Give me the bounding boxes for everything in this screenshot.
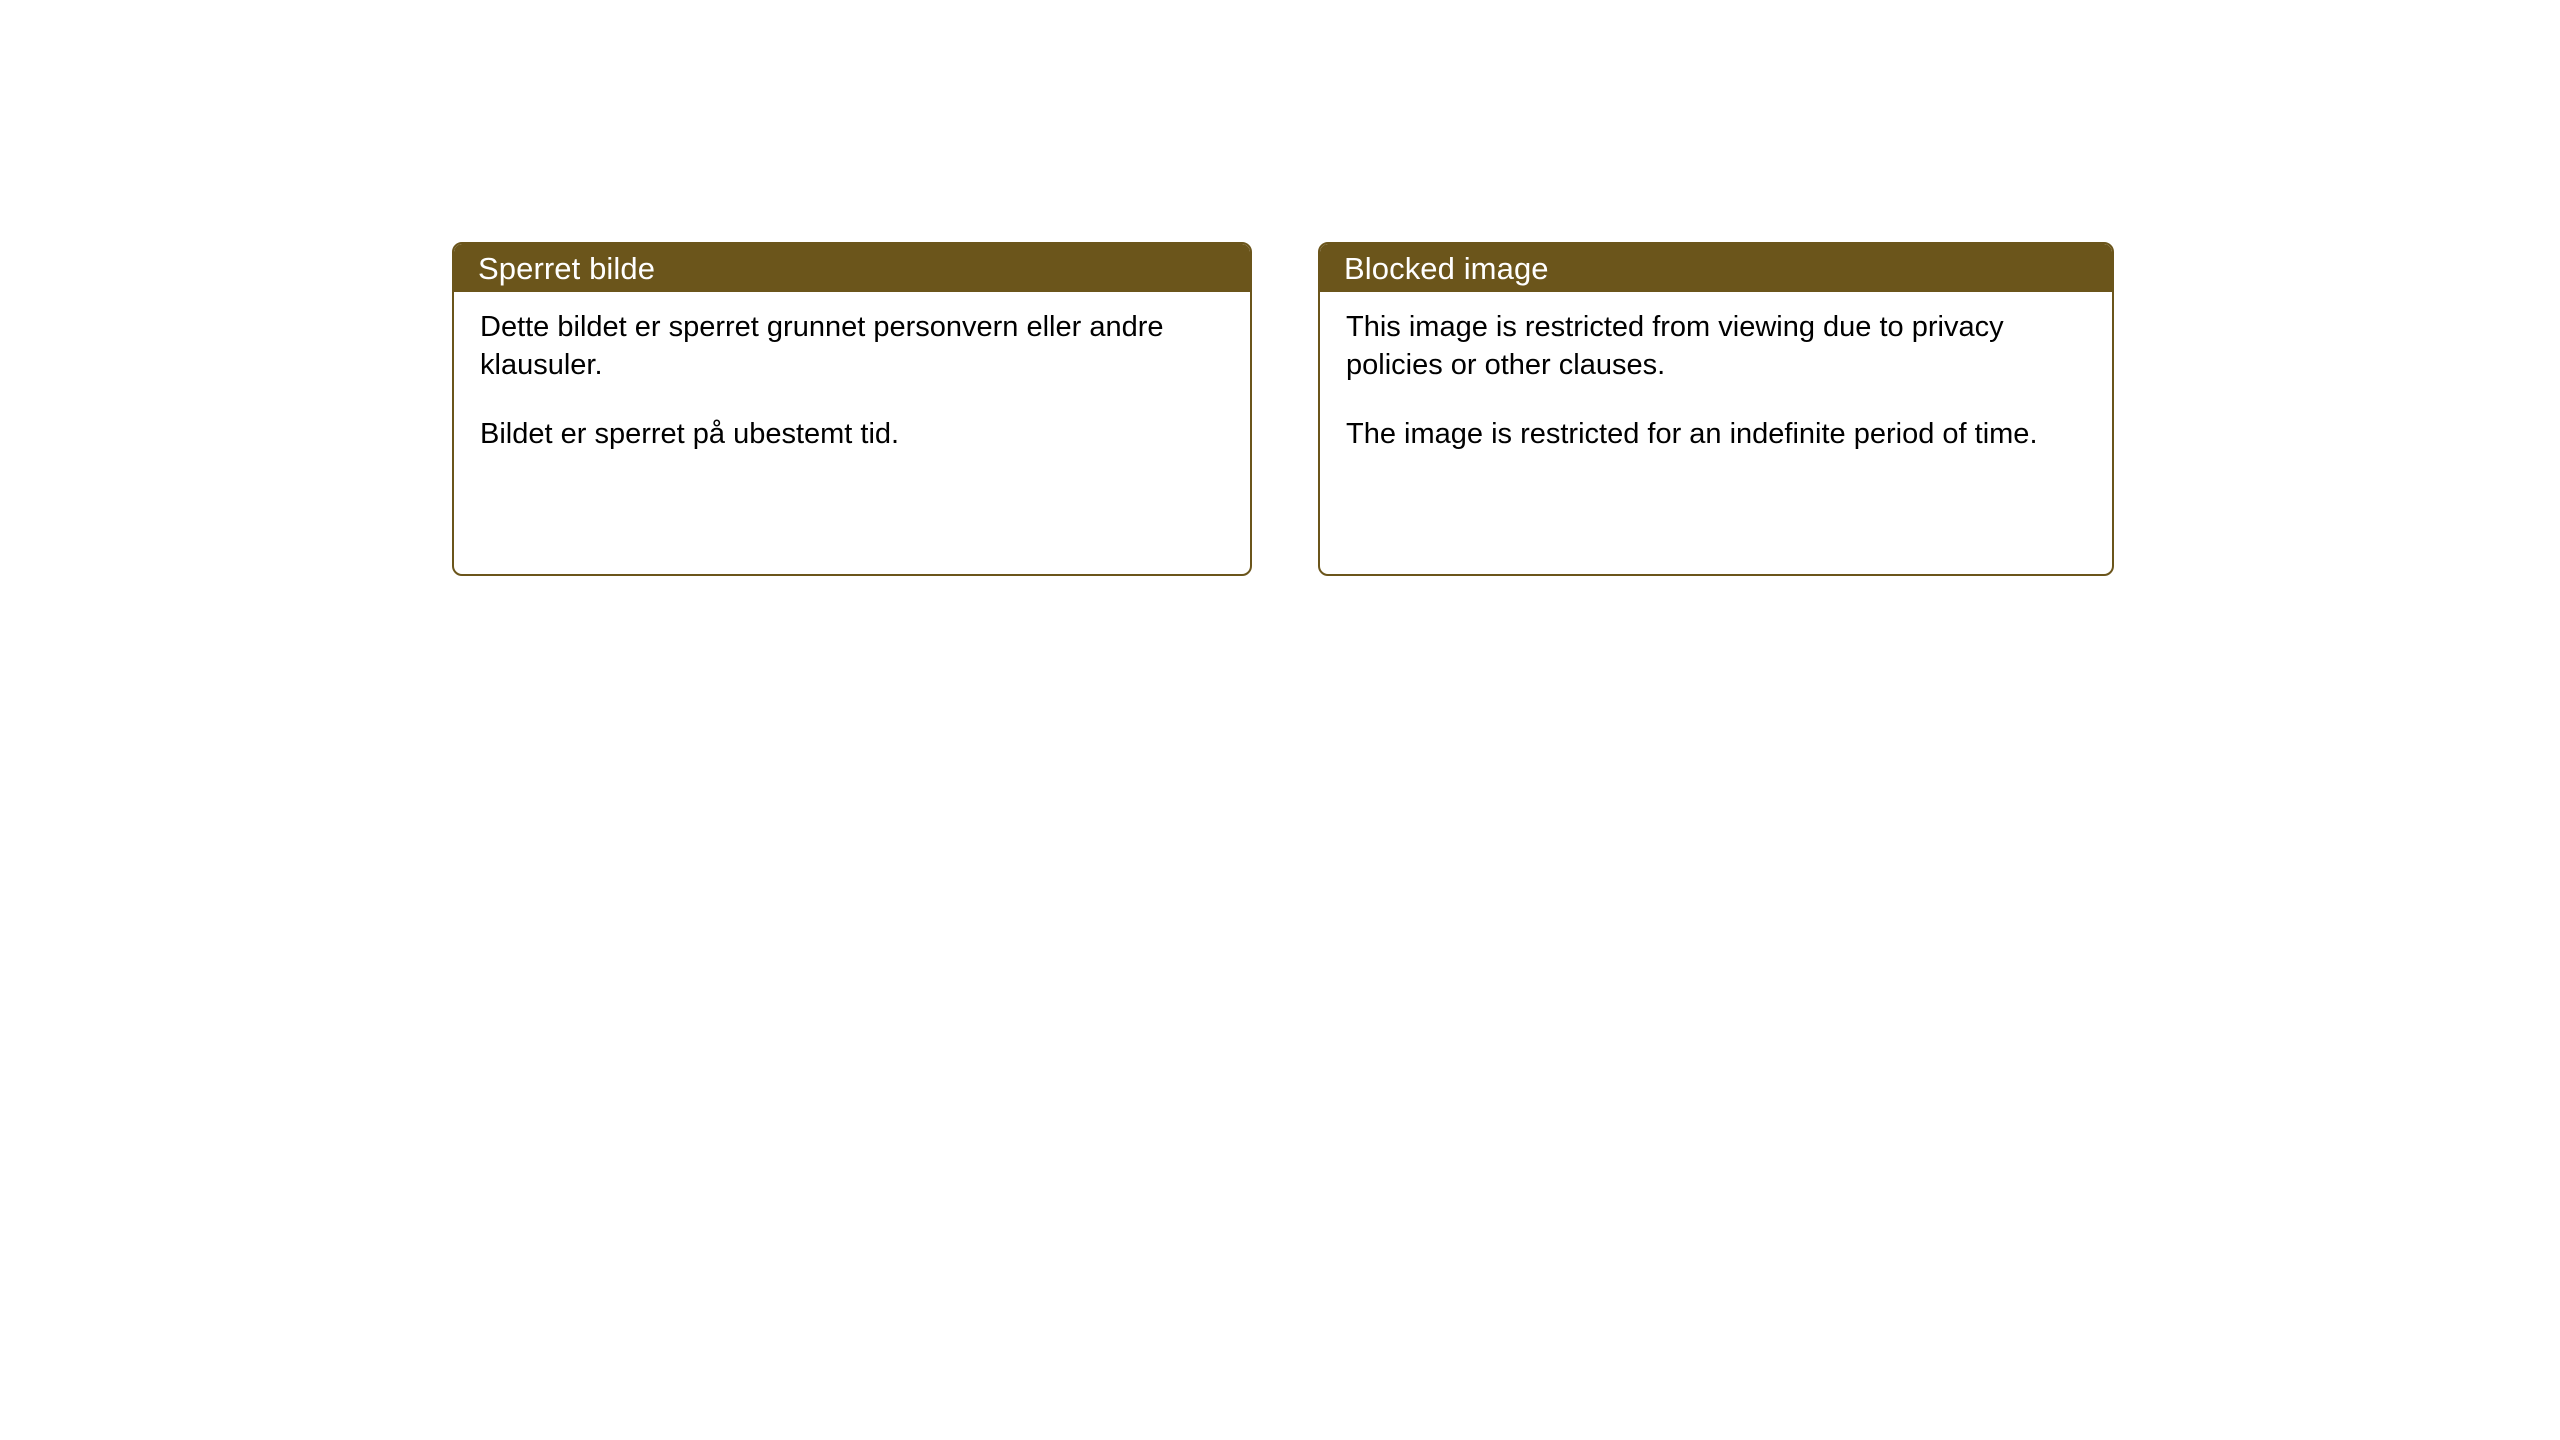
card-paragraph-duration-english: The image is restricted for an indefinit… bbox=[1346, 415, 2090, 453]
card-title-norwegian: Sperret bilde bbox=[478, 253, 655, 284]
card-header-english: Blocked image bbox=[1320, 244, 2112, 292]
card-paragraph-reason-english: This image is restricted from viewing du… bbox=[1346, 308, 2090, 385]
card-body-english: This image is restricted from viewing du… bbox=[1320, 292, 2112, 453]
blocked-image-notice-card-english: Blocked image This image is restricted f… bbox=[1318, 242, 2114, 576]
card-paragraph-reason-norwegian: Dette bildet er sperret grunnet personve… bbox=[480, 308, 1228, 385]
card-paragraph-duration-norwegian: Bildet er sperret på ubestemt tid. bbox=[480, 415, 1228, 453]
card-body-norwegian: Dette bildet er sperret grunnet personve… bbox=[454, 292, 1250, 453]
card-title-english: Blocked image bbox=[1344, 253, 1549, 284]
page-root: Sperret bilde Dette bildet er sperret gr… bbox=[0, 0, 2560, 1440]
blocked-image-notice-card-norwegian: Sperret bilde Dette bildet er sperret gr… bbox=[452, 242, 1252, 576]
card-header-norwegian: Sperret bilde bbox=[454, 244, 1250, 292]
